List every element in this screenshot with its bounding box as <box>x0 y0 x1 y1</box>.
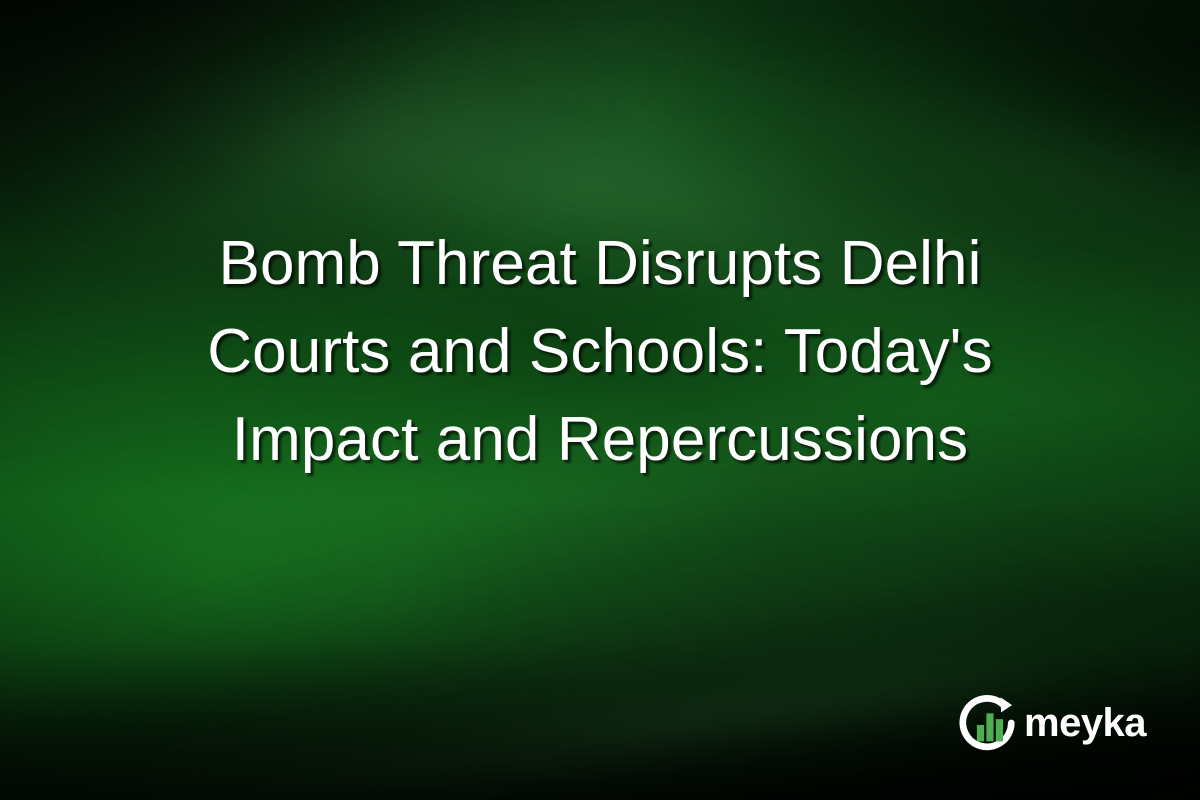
wave-shadow-lower <box>0 518 1200 800</box>
brand-wordmark: meyka <box>1024 703 1146 743</box>
headline-title: Bomb Threat Disrupts Delhi Courts and Sc… <box>0 220 1200 484</box>
meyka-bar-chart-ring-logo-icon <box>958 692 1020 754</box>
wave-highlight-bottom <box>0 528 1200 800</box>
brand-logo[interactable]: meyka <box>958 692 1146 754</box>
share-card-canvas: Bomb Threat Disrupts Delhi Courts and Sc… <box>0 0 1200 800</box>
